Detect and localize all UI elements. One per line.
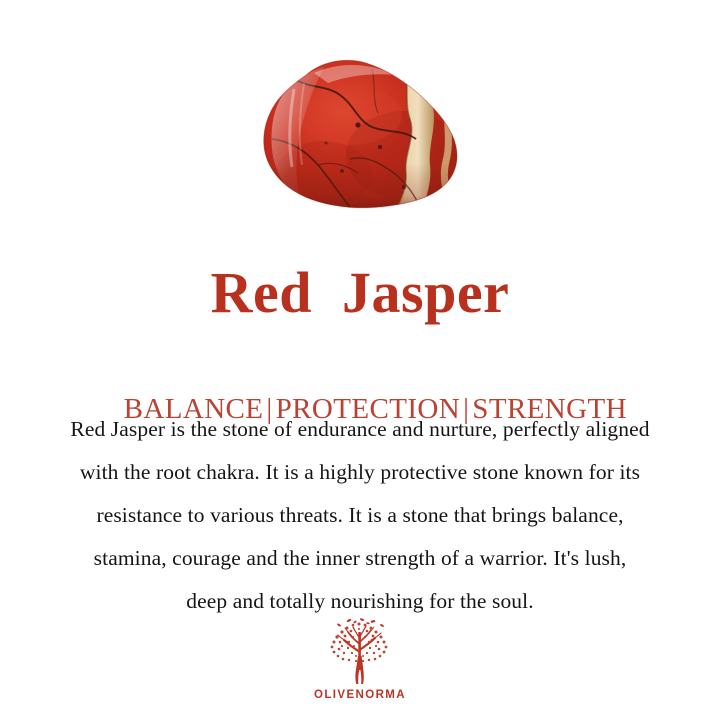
description-line: deep and totally nourishing for the soul… bbox=[10, 580, 710, 623]
red-jasper-info-card: Red Jasper BALANCE|PROTECTION|STRENGTH R… bbox=[0, 0, 720, 720]
description-line: resistance to various threats. It is a s… bbox=[10, 494, 710, 537]
page-title: Red Jasper bbox=[0, 262, 720, 324]
tree-of-life-icon bbox=[318, 618, 402, 686]
red-jasper-stone-image bbox=[254, 55, 466, 221]
product-image-container bbox=[0, 52, 720, 224]
brand-name: OLIVENORMA bbox=[314, 689, 406, 701]
brand-logo: OLIVENORMA bbox=[0, 618, 720, 701]
description-line: with the root chakra. It is a highly pro… bbox=[10, 451, 710, 494]
description-line: Red Jasper is the stone of endurance and… bbox=[10, 408, 710, 451]
description-text: Red Jasper is the stone of endurance and… bbox=[10, 408, 710, 623]
description-line: stamina, courage and the inner strength … bbox=[10, 537, 710, 580]
